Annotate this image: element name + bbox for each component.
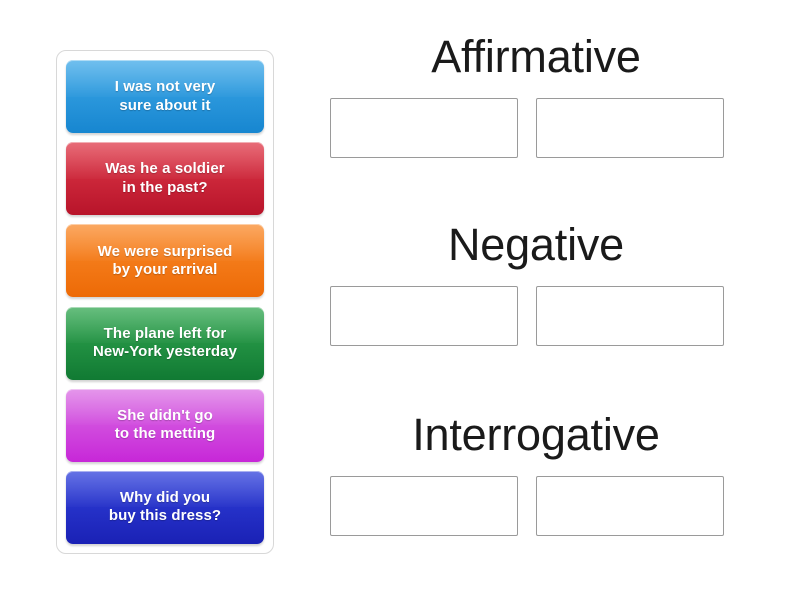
dropzone-negative-1[interactable]	[330, 286, 518, 346]
tile-label: I was not very sure about it	[115, 78, 216, 115]
draggable-tiles-panel: I was not very sure about it Was he a so…	[56, 50, 274, 554]
tile-label: The plane left for New-York yesterday	[93, 325, 237, 362]
group-heading: Affirmative	[330, 34, 742, 79]
draggable-tile[interactable]: We were surprised by your arrival	[66, 224, 264, 297]
activity-stage: I was not very sure about it Was he a so…	[0, 0, 800, 600]
tile-label: She didn't go to the metting	[115, 407, 216, 444]
category-group-negative: Negative	[330, 222, 742, 346]
draggable-tile[interactable]: Why did you buy this dress?	[66, 471, 264, 544]
draggable-tile[interactable]: She didn't go to the metting	[66, 389, 264, 462]
group-heading: Interrogative	[330, 412, 742, 457]
dropzone-negative-2[interactable]	[536, 286, 724, 346]
draggable-tile[interactable]: The plane left for New-York yesterday	[66, 307, 264, 380]
group-heading: Negative	[330, 222, 742, 267]
tile-label: We were surprised by your arrival	[98, 243, 233, 280]
tile-label: Was he a soldier in the past?	[105, 160, 224, 197]
dropzone-interrogative-1[interactable]	[330, 476, 518, 536]
category-group-interrogative: Interrogative	[330, 412, 742, 536]
dropzone-row	[330, 286, 742, 346]
dropzone-affirmative-2[interactable]	[536, 98, 724, 158]
dropzone-row	[330, 476, 742, 536]
dropzone-affirmative-1[interactable]	[330, 98, 518, 158]
dropzone-row	[330, 98, 742, 158]
draggable-tile[interactable]: Was he a soldier in the past?	[66, 142, 264, 215]
dropzone-interrogative-2[interactable]	[536, 476, 724, 536]
tile-label: Why did you buy this dress?	[109, 489, 221, 526]
category-group-affirmative: Affirmative	[330, 34, 742, 158]
category-groups-area: Affirmative Negative Interrogative	[330, 30, 770, 575]
draggable-tile[interactable]: I was not very sure about it	[66, 60, 264, 133]
